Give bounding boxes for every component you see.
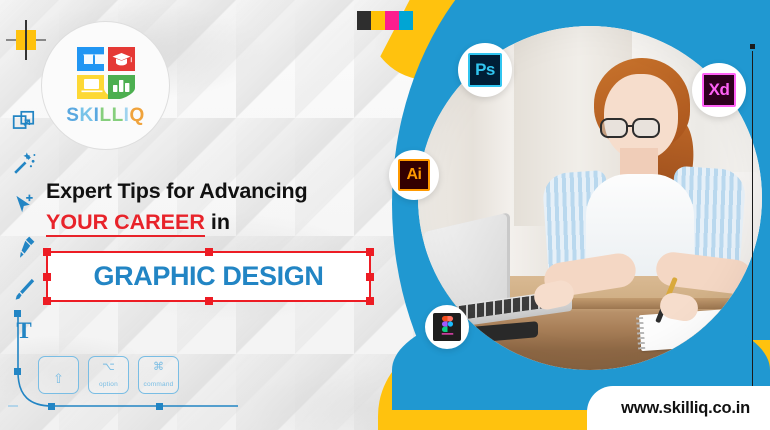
option-key[interactable]: ⌥ option — [88, 356, 129, 394]
swatch-cyan[interactable] — [399, 11, 413, 30]
crosshair-vertical-line — [25, 20, 27, 60]
shift-key[interactable]: ⇧ — [38, 356, 79, 394]
selection-handle-bottom-center[interactable] — [205, 297, 213, 305]
illustrator-badge-label: Ai — [398, 159, 430, 191]
website-url-text: www.skilliq.co.in — [621, 399, 750, 418]
brush-tool-icon[interactable] — [11, 276, 37, 302]
illustrator-badge[interactable]: Ai — [389, 150, 439, 200]
command-key-glyph: ⌘ — [139, 361, 178, 373]
headline-line-2-rest: in — [211, 210, 230, 234]
keycap-group: ⇧ ⌥ option ⌘ command — [38, 356, 179, 394]
selection-handle-top-center[interactable] — [205, 248, 213, 256]
option-key-label: option — [89, 381, 128, 388]
banner-canvas: Ps Xd Ai — [0, 0, 770, 430]
ruler-guide[interactable] — [749, 44, 756, 430]
selection-handle-middle-right[interactable] — [366, 273, 374, 281]
selection-handle-bottom-right[interactable] — [366, 297, 374, 305]
cmyk-swatch-strip — [357, 11, 413, 30]
headline-line-1: Expert Tips for Advancing — [46, 178, 396, 204]
headline-block: Expert Tips for Advancing YOUR CAREER in — [46, 178, 396, 235]
selection-bounding-box[interactable]: GRAPHIC DESIGN — [46, 251, 371, 302]
headline-highlight: YOUR CAREER — [46, 210, 205, 237]
adobe-xd-badge[interactable]: Xd — [692, 63, 746, 117]
swatch-magenta[interactable] — [385, 11, 399, 30]
tool-rail: T — [8, 108, 40, 344]
selection-handle-top-right[interactable] — [366, 248, 374, 256]
command-key-label: command — [139, 381, 178, 388]
selection-handle-bottom-left[interactable] — [43, 297, 51, 305]
skilliq-shield-icon — [75, 45, 137, 101]
swatch-key-black[interactable] — [357, 11, 371, 30]
shift-key-glyph: ⇧ — [39, 373, 78, 385]
direct-selection-icon[interactable] — [11, 192, 37, 218]
option-key-glyph: ⌥ — [89, 361, 128, 373]
command-key[interactable]: ⌘ command — [138, 356, 179, 394]
figma-badge[interactable] — [425, 305, 469, 349]
swatch-yellow[interactable] — [371, 11, 385, 30]
figma-logo-icon — [433, 313, 461, 341]
photoshop-badge[interactable]: Ps — [458, 43, 512, 97]
magic-wand-icon[interactable] — [11, 150, 37, 176]
artboard-transform-icon[interactable] — [11, 108, 37, 134]
ruler-guide-line — [752, 51, 753, 430]
path-anchor-mid — [14, 368, 21, 375]
selection-handle-top-left[interactable] — [43, 248, 51, 256]
selection-handle-middle-left[interactable] — [43, 273, 51, 281]
ruler-guide-handle[interactable] — [750, 44, 755, 49]
website-url-plate[interactable]: www.skilliq.co.in — [587, 386, 770, 430]
selected-text-label: GRAPHIC DESIGN — [48, 253, 369, 300]
pen-tool-icon[interactable] — [11, 234, 37, 260]
headline-line-2: YOUR CAREER in — [46, 209, 396, 235]
photoshop-badge-label: Ps — [468, 53, 502, 87]
adobe-xd-badge-label: Xd — [702, 73, 736, 107]
skilliq-logo-text: SKILLIQ — [66, 106, 144, 126]
path-anchor-end — [156, 403, 163, 410]
path-anchor-corner — [48, 403, 55, 410]
skilliq-logo[interactable]: SKILLIQ — [41, 21, 170, 150]
path-anchor-top — [14, 310, 21, 317]
registration-crosshair-icon — [6, 20, 46, 60]
